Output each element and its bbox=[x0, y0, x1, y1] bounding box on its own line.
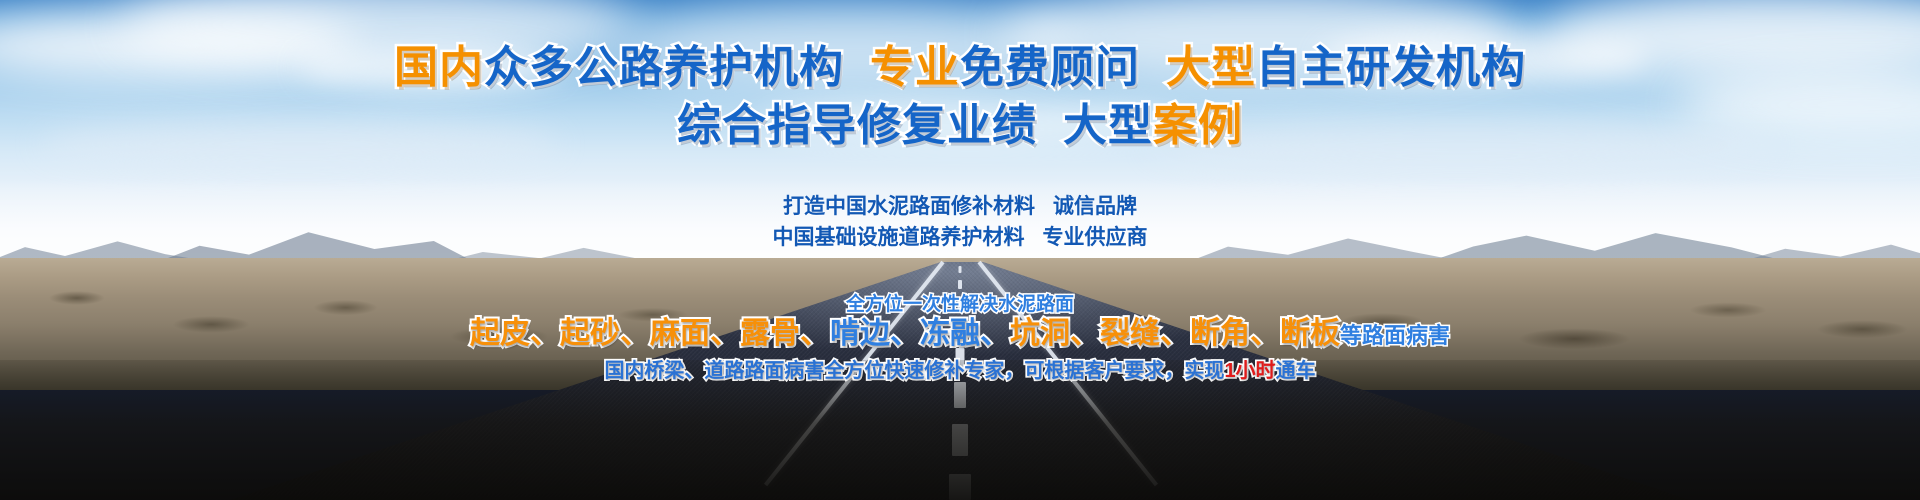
defect-item: 断角、 bbox=[1190, 317, 1280, 350]
headline-seg-4: 免费顾问 bbox=[960, 43, 1140, 92]
subheadline-2-b: 专业供应商 bbox=[1043, 226, 1148, 249]
headline2-seg-3: 案例 bbox=[1153, 101, 1243, 150]
headline-seg-1: 国内 bbox=[394, 43, 484, 92]
lower-intro-text: 全方位一次性解决水泥路面 bbox=[846, 294, 1074, 315]
headline-line-2: 综合指导修复业绩大型案例 bbox=[0, 100, 1920, 152]
subheadline-line-2: 中国基础设施道路养护材料专业供应商 bbox=[0, 224, 1920, 251]
subheadline-2-a: 中国基础设施道路养护材料 bbox=[773, 226, 1025, 249]
closing-highlight: 1小时 bbox=[1224, 360, 1275, 382]
defect-item: 断板 bbox=[1280, 317, 1340, 350]
headline-seg-2: 众多公路养护机构 bbox=[484, 43, 844, 92]
headline-line-1: 国内众多公路养护机构专业免费顾问大型自主研发机构 bbox=[0, 42, 1920, 94]
defect-item: 冻融、 bbox=[920, 317, 1010, 350]
subheadline-1-a: 打造中国水泥路面修补材料 bbox=[783, 195, 1035, 218]
subheadline-1-b: 诚信品牌 bbox=[1053, 195, 1137, 218]
subheadline-line-1: 打造中国水泥路面修补材料诚信品牌 bbox=[0, 193, 1920, 220]
defect-item: 起砂、 bbox=[560, 317, 650, 350]
headline-seg-3: 专业 bbox=[870, 43, 960, 92]
defect-list-tail: 等路面病害 bbox=[1340, 323, 1450, 348]
defect-item: 啃边、 bbox=[830, 317, 920, 350]
defect-item: 裂缝、 bbox=[1100, 317, 1190, 350]
closing-text-b: 通车 bbox=[1276, 360, 1316, 382]
banner-image: 国内众多公路养护机构专业免费顾问大型自主研发机构 综合指导修复业绩大型案例 打造… bbox=[0, 0, 1920, 500]
closing-text-a: 国内桥梁、道路路面病害全方位快速修补专家，可根据客户要求，实现 bbox=[604, 360, 1224, 382]
headline-seg-6: 自主研发机构 bbox=[1256, 43, 1526, 92]
defect-item: 麻面、 bbox=[650, 317, 740, 350]
headline2-seg-2: 大型 bbox=[1063, 101, 1153, 150]
lower-intro-line: 全方位一次性解决水泥路面 bbox=[0, 293, 1920, 317]
defect-list-line: 起皮、起砂、麻面、露骨、啃边、冻融、坑洞、裂缝、断角、断板等路面病害 bbox=[0, 315, 1920, 355]
headline-seg-5: 大型 bbox=[1166, 43, 1256, 92]
defect-item: 坑洞、 bbox=[1010, 317, 1100, 350]
headline2-seg-1: 综合指导修复业绩 bbox=[677, 101, 1037, 150]
defect-item: 起皮、 bbox=[470, 317, 560, 350]
banner-text-content: 国内众多公路养护机构专业免费顾问大型自主研发机构 综合指导修复业绩大型案例 打造… bbox=[0, 0, 1920, 500]
defect-item: 露骨、 bbox=[740, 317, 830, 350]
closing-line: 国内桥梁、道路路面病害全方位快速修补专家，可根据客户要求，实现1小时通车 bbox=[0, 358, 1920, 384]
